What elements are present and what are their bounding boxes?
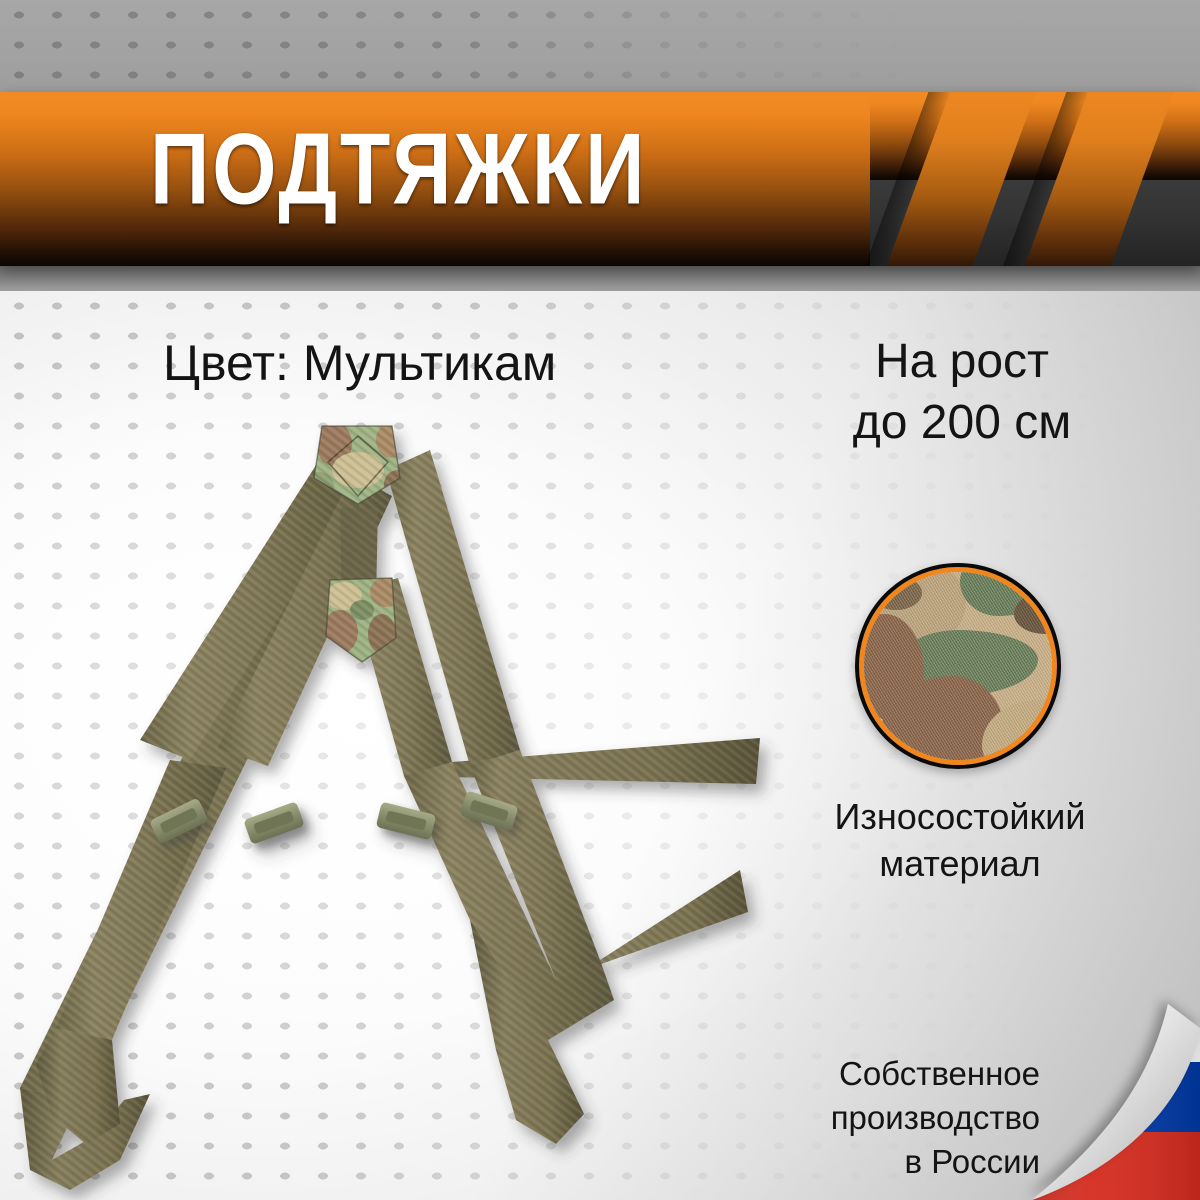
fabric-swatch-badge — [855, 563, 1061, 769]
size-spec-label: На рост до 200 см — [812, 336, 1112, 450]
fabric-swatch-image — [864, 572, 1052, 760]
header-banner: ПОДТЯЖКИ — [0, 92, 1200, 266]
color-spec-label: Цвет: Мультикам — [163, 336, 556, 391]
buckle-adjuster — [243, 801, 305, 845]
material-caption: Износостойкий материал — [760, 794, 1160, 888]
material-caption-line1: Износостойкий — [760, 794, 1160, 841]
product-info-card: ПОДТЯЖКИ Цвет: Мультикам На рост до 200 … — [0, 0, 1200, 1200]
size-spec-line1: На рост — [812, 336, 1112, 389]
background-top-dot-pattern — [0, 0, 1200, 92]
suspender-straps-group — [20, 416, 760, 1190]
fabric-weave-texture — [864, 572, 1052, 760]
product-image-suspenders — [0, 400, 800, 1200]
page-curl-flag-corner — [1000, 988, 1200, 1200]
banner-under-band — [0, 265, 1200, 291]
size-spec-line2: до 200 см — [812, 397, 1112, 450]
page-title: ПОДТЯЖКИ — [150, 118, 647, 219]
material-caption-line2: материал — [760, 841, 1160, 888]
russia-flag-icon — [1000, 988, 1200, 1200]
